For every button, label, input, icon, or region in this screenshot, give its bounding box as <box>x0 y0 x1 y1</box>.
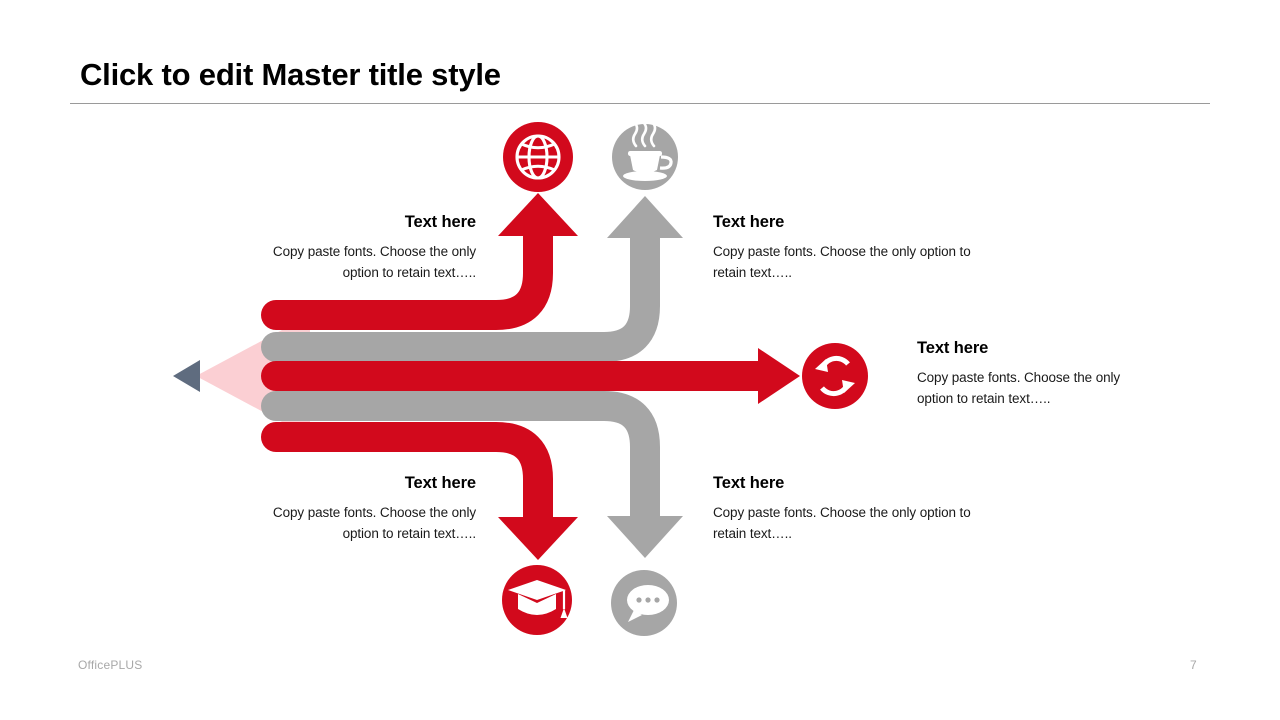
footer-page-number: 7 <box>1190 658 1197 672</box>
pencil-tip-icon <box>173 360 200 392</box>
callout-middle-title: Text here <box>917 338 1149 359</box>
branch-top-left-arrowhead <box>498 193 578 236</box>
callout-bottom-right-body: Copy paste fonts. Choose the only option… <box>713 503 995 545</box>
callout-top-left-title: Text here <box>238 212 476 233</box>
footer-brand: OfficePLUS <box>78 658 142 672</box>
branch-middle-arrowhead <box>758 348 800 404</box>
callout-top-left-body: Copy paste fonts. Choose the only option… <box>238 242 476 284</box>
callout-top-right-body: Copy paste fonts. Choose the only option… <box>713 242 995 284</box>
branch-top-right-arrowhead <box>607 196 683 238</box>
callout-bottom-left-title: Text here <box>238 473 476 494</box>
refresh-sync-icon[interactable] <box>802 343 868 409</box>
globe-icon[interactable] <box>503 122 573 192</box>
branch-bottom-left-arrowhead <box>498 517 578 560</box>
callout-top-right: Text here Copy paste fonts. Choose the o… <box>713 212 995 283</box>
speech-bubble-icon[interactable] <box>611 570 677 636</box>
branch-bottom-right-arrowhead <box>607 516 683 558</box>
graduation-cap-icon[interactable] <box>502 565 572 635</box>
callout-middle-body: Copy paste fonts. Choose the only option… <box>917 368 1149 410</box>
callout-middle: Text here Copy paste fonts. Choose the o… <box>917 338 1149 409</box>
callout-bottom-right: Text here Copy paste fonts. Choose the o… <box>713 473 995 544</box>
callout-top-left: Text here Copy paste fonts. Choose the o… <box>238 212 476 283</box>
callout-bottom-left: Text here Copy paste fonts. Choose the o… <box>238 473 476 544</box>
callout-bottom-left-body: Copy paste fonts. Choose the only option… <box>238 503 476 545</box>
callout-bottom-right-title: Text here <box>713 473 995 494</box>
coffee-cup-icon[interactable] <box>612 123 678 190</box>
callout-top-right-title: Text here <box>713 212 995 233</box>
